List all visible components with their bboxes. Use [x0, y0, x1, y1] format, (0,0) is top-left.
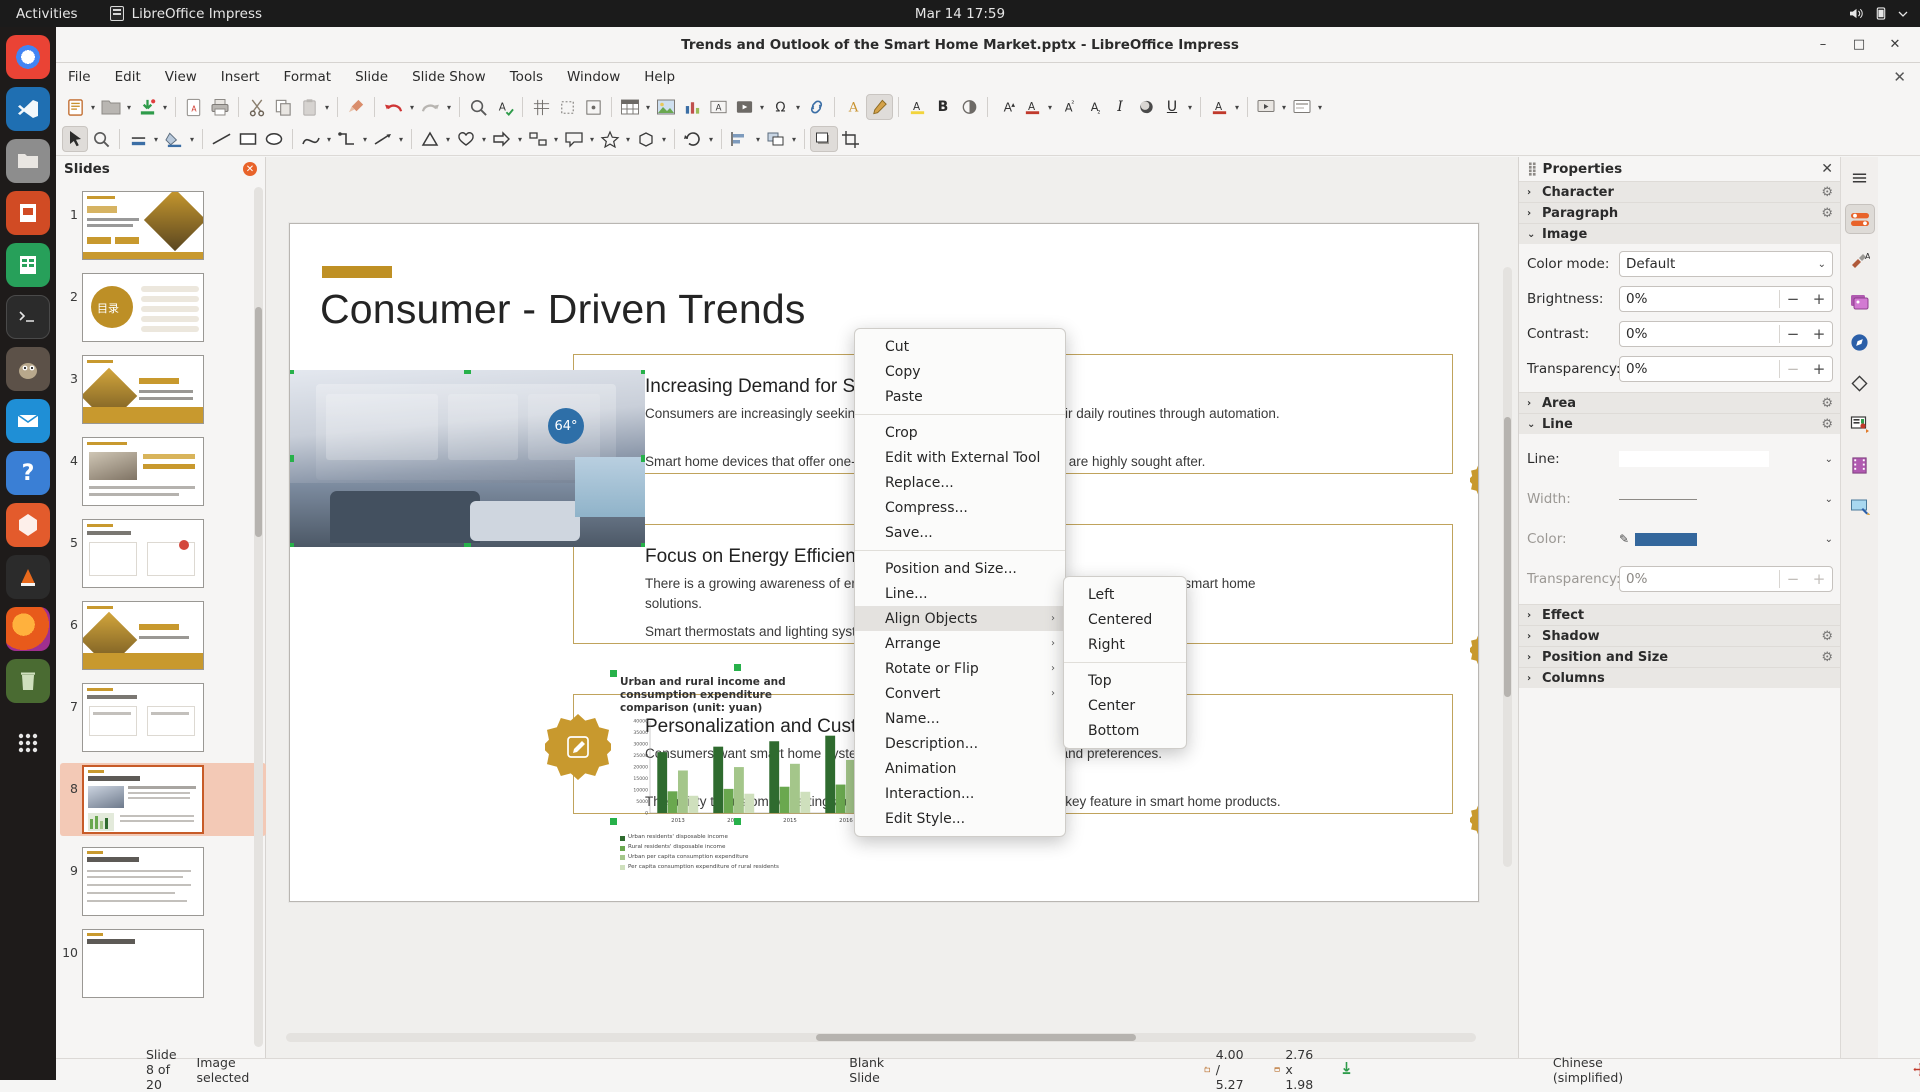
dock-files[interactable]: [6, 139, 50, 183]
color-mode-label: Color mode:: [1527, 256, 1619, 272]
contrast-row: Contrast: 0% − +: [1519, 319, 1841, 349]
image-transparency-increase-button[interactable]: +: [1806, 360, 1832, 378]
line-transparency-spinner[interactable]: 0% − +: [1619, 566, 1833, 592]
menu-file[interactable]: File: [56, 66, 103, 88]
slide-preview-1: [82, 191, 204, 260]
sidebar-section-shadow[interactable]: › Shadow ⚙: [1519, 625, 1841, 646]
slide-title[interactable]: Consumer - Driven Trends: [320, 286, 806, 333]
font-name-color-dropdown[interactable]: ▾: [1232, 103, 1242, 112]
brightness-row: Brightness: 0% − +: [1519, 284, 1841, 314]
image-transparency-label: Transparency:: [1527, 361, 1619, 377]
copy-button[interactable]: [270, 94, 296, 120]
card-3-badge[interactable]: [1470, 802, 1479, 838]
sidebar-settings-button[interactable]: [1845, 163, 1875, 193]
legend-label: Per capita consumption expenditure of ru…: [628, 863, 779, 873]
card-2-badge[interactable]: [1470, 632, 1479, 668]
fit-to-window-icon[interactable]: [1913, 1062, 1920, 1077]
paste-dropdown[interactable]: ▾: [322, 103, 332, 112]
chevron-right-icon: ›: [1051, 638, 1055, 649]
context-menu-separator-1: [855, 414, 1065, 415]
connectors-button[interactable]: [334, 126, 360, 152]
svg-text:2016: 2016: [839, 818, 853, 824]
selection-handle-bl[interactable]: [290, 543, 294, 547]
arrange-label: Arrange: [885, 636, 941, 652]
master-slide-dropdown[interactable]: ▾: [1315, 103, 1325, 112]
context-menu-item-convert[interactable]: Convert ›: [855, 681, 1065, 706]
gear-icon[interactable]: ⚙: [1821, 629, 1833, 644]
callouts-button[interactable]: [561, 126, 587, 152]
line-style-preview[interactable]: [1619, 451, 1769, 467]
window-title: Trends and Outlook of the Smart Home Mar…: [681, 37, 1239, 53]
slide-thumbnail-2[interactable]: 2 目录: [60, 271, 266, 344]
brightness-increase-button[interactable]: +: [1806, 290, 1832, 308]
menu-slide-show[interactable]: Slide Show: [400, 66, 498, 88]
slide-preview-6: [82, 601, 204, 670]
title-accent-bar: [322, 266, 392, 278]
svg-text:2013: 2013: [671, 818, 685, 824]
italic-button[interactable]: I: [1107, 94, 1133, 120]
slide-thumbnail-7[interactable]: 7: [60, 681, 266, 754]
gear-icon[interactable]: ⚙: [1821, 650, 1833, 665]
dock-gimp[interactable]: [6, 347, 50, 391]
dock-show-applications[interactable]: [6, 721, 50, 765]
slide-preview-8: [82, 765, 204, 834]
submenu-item-right[interactable]: Right: [1064, 632, 1186, 657]
context-menu-item-crop[interactable]: Crop: [855, 420, 1065, 445]
insert-hyperlink-button[interactable]: [803, 94, 829, 120]
dock-firefox[interactable]: [6, 607, 50, 651]
slide-thumbnail-1[interactable]: 1: [60, 189, 266, 262]
brightness-decrease-button[interactable]: −: [1780, 290, 1806, 308]
menu-tools[interactable]: Tools: [498, 66, 555, 88]
slide-panel-scrollbar[interactable]: [254, 187, 263, 1047]
flowchart-button[interactable]: [525, 126, 551, 152]
slides-panel: Slides ✕ 1 2 目录: [56, 157, 266, 1058]
basic-shapes-button[interactable]: [417, 126, 443, 152]
slide-thumbnail-10[interactable]: 10: [60, 927, 266, 1000]
sidebar-tab-slide-transition[interactable]: [1845, 491, 1875, 521]
context-menu-item-description[interactable]: Description...: [855, 731, 1065, 756]
close-slides-panel-button[interactable]: ✕: [243, 162, 257, 176]
power-icon: [1874, 7, 1888, 20]
lines-arrows-dropdown[interactable]: ▾: [396, 135, 406, 144]
context-menu-item-edit-with-external-tool[interactable]: Edit with External Tool: [855, 445, 1065, 470]
sidebar-section-paragraph[interactable]: › Paragraph ⚙: [1519, 202, 1841, 223]
context-menu-item-paste[interactable]: Paste: [855, 384, 1065, 409]
fill-color-button[interactable]: [161, 126, 187, 152]
helplines-button[interactable]: [554, 94, 580, 120]
dock-calc[interactable]: [6, 243, 50, 287]
stars-dropdown[interactable]: ▾: [623, 135, 633, 144]
context-menu-item-line[interactable]: Line...: [855, 581, 1065, 606]
slide-thumbnail-3[interactable]: 3: [60, 353, 266, 426]
subscript-button[interactable]: A₂: [1081, 94, 1107, 120]
sidebar-tab-gallery[interactable]: [1845, 286, 1875, 316]
select-tool-button[interactable]: [62, 126, 88, 152]
sidebar-tab-navigator[interactable]: [1845, 327, 1875, 357]
fill-color-dropdown[interactable]: ▾: [187, 135, 197, 144]
context-menu-item-animation[interactable]: Animation: [855, 756, 1065, 781]
align-right-label: Right: [1088, 637, 1125, 653]
contrast-spinner[interactable]: 0% − +: [1619, 321, 1833, 347]
position-size-section-label: Position and Size: [1542, 650, 1668, 665]
save-dropdown[interactable]: ▾: [160, 103, 170, 112]
start-presentation-dropdown[interactable]: ▾: [1279, 103, 1289, 112]
selection-handle-tr[interactable]: [641, 370, 645, 374]
selection-handle-ml[interactable]: [290, 455, 294, 462]
contrast-increase-button[interactable]: +: [1806, 325, 1832, 343]
find-replace-button[interactable]: [465, 94, 491, 120]
curves-and-polygons-button[interactable]: [298, 126, 324, 152]
redo-dropdown[interactable]: ▾: [444, 103, 454, 112]
system-tray[interactable]: [1849, 7, 1908, 20]
svg-text:A: A: [847, 101, 858, 116]
brightness-spinner[interactable]: 0% − +: [1619, 286, 1833, 312]
start-from-first-slide-button[interactable]: [1253, 94, 1279, 120]
color-mode-select[interactable]: Default ⌄: [1619, 251, 1833, 277]
selection-handle-tl[interactable]: [290, 370, 294, 374]
activities-button[interactable]: Activities: [0, 6, 92, 22]
insert-line-button[interactable]: [208, 126, 235, 152]
export-pdf-button[interactable]: A: [181, 94, 207, 120]
bold-button[interactable]: B: [930, 94, 956, 120]
line-transparency-increase-button[interactable]: +: [1806, 570, 1832, 588]
dock-terminal[interactable]: [6, 295, 50, 339]
symbol-shapes-button[interactable]: [453, 126, 479, 152]
sidebar-section-line[interactable]: ⌄ Line ⚙: [1519, 413, 1841, 434]
dock-impress[interactable]: [6, 191, 50, 235]
svg-text:30000: 30000: [633, 742, 648, 748]
menu-format[interactable]: Format: [272, 66, 344, 88]
align-centered-label: Centered: [1088, 612, 1152, 628]
convert-label: Convert: [885, 686, 940, 702]
clone-formatting-button[interactable]: [343, 94, 369, 120]
line-section-label: Line: [1542, 417, 1573, 432]
snap-grid-button[interactable]: [580, 94, 606, 120]
font-color-button[interactable]: A: [1019, 94, 1045, 120]
card-2-heading[interactable]: Focus on Energy Efficiency: [645, 546, 875, 568]
chevron-right-icon: ›: [1527, 187, 1536, 198]
context-menu-item-copy[interactable]: Copy: [855, 359, 1065, 384]
menu-insert[interactable]: Insert: [209, 66, 272, 88]
embedded-chart-image[interactable]: Urban and rural income and consumption e…: [620, 676, 880, 826]
open-button[interactable]: [98, 94, 124, 120]
dock-chrome[interactable]: [6, 35, 50, 79]
font-name-color-button[interactable]: A: [1206, 94, 1232, 120]
svg-text:2015: 2015: [783, 818, 797, 824]
curves-dropdown[interactable]: ▾: [324, 135, 334, 144]
insert-special-character-dropdown[interactable]: ▾: [793, 103, 803, 112]
description-label: Description...: [885, 736, 978, 752]
grip-icon: ⣿: [1527, 161, 1536, 177]
sidebar-tab-animation[interactable]: [1845, 450, 1875, 480]
menu-edit[interactable]: Edit: [103, 66, 153, 88]
cursor-position: 4.00 / 5.27: [1216, 1047, 1250, 1092]
close-document-button[interactable]: ✕: [1893, 68, 1906, 86]
undo-button[interactable]: [380, 94, 407, 120]
display-grid-button[interactable]: [528, 94, 554, 120]
context-menu-item-save[interactable]: Save...: [855, 520, 1065, 545]
chevron-right-icon: ›: [1527, 208, 1536, 219]
dock-vscode[interactable]: [6, 87, 50, 131]
context-menu-item-cut[interactable]: Cut: [855, 334, 1065, 359]
horizontal-scrollbar[interactable]: [286, 1033, 1476, 1042]
slide-number-2: 2: [62, 273, 78, 304]
chart-handle-tm[interactable]: [734, 664, 741, 671]
card-1-badge[interactable]: [1470, 462, 1479, 498]
svg-text:10000: 10000: [633, 788, 648, 794]
save-label: Save...: [885, 525, 933, 541]
character-highlighting-button[interactable]: A: [904, 94, 930, 120]
underline-dropdown[interactable]: ▾: [1185, 103, 1195, 112]
gear-icon[interactable]: ⚙: [1821, 206, 1833, 221]
sidebar-tab-properties[interactable]: [1845, 204, 1875, 234]
line-color-button[interactable]: [125, 126, 151, 152]
rotate-dropdown[interactable]: ▾: [706, 135, 716, 144]
active-app-label: LibreOffice Impress: [132, 6, 262, 22]
clock[interactable]: Mar 14 17:59: [915, 6, 1005, 22]
line-color-dropdown[interactable]: ▾: [151, 135, 161, 144]
insert-media-button[interactable]: [731, 94, 757, 120]
context-menu-item-replace[interactable]: Replace...: [855, 470, 1065, 495]
font-color-dropdown[interactable]: ▾: [1045, 103, 1055, 112]
insert-textbox-button[interactable]: A: [705, 94, 731, 120]
submenu-item-left[interactable]: Left: [1064, 582, 1186, 607]
context-menu-item-name[interactable]: Name...: [855, 706, 1065, 731]
insert-table-button[interactable]: [617, 94, 643, 120]
block-arrows-dropdown[interactable]: ▾: [515, 135, 525, 144]
print-button[interactable]: [207, 94, 233, 120]
sidebar-tab-rail: A: [1840, 157, 1878, 1058]
fontwork-button[interactable]: A: [840, 94, 866, 120]
selection-handle-tm[interactable]: [464, 370, 471, 374]
basic-shapes-dropdown[interactable]: ▾: [443, 135, 453, 144]
svg-text:A: A: [1214, 101, 1222, 113]
slide-layout-status: Blank Slide: [849, 1055, 884, 1085]
connectors-dropdown[interactable]: ▾: [360, 135, 370, 144]
contrast-decrease-button[interactable]: −: [1780, 325, 1806, 343]
shadow-section-label: Shadow: [1542, 629, 1600, 644]
line-transparency-decrease-button[interactable]: −: [1780, 570, 1806, 588]
color-button[interactable]: [956, 94, 982, 120]
zoom-tool-button[interactable]: [88, 126, 114, 152]
brightness-value: 0%: [1626, 291, 1647, 307]
redo-button[interactable]: [417, 94, 444, 120]
selected-image[interactable]: 64°: [290, 370, 645, 547]
sidebar-section-effect[interactable]: › Effect: [1519, 604, 1841, 625]
save-button[interactable]: [134, 94, 160, 120]
image-transparency-row: Transparency: 0% − +: [1519, 354, 1841, 384]
ellipse-button[interactable]: [261, 126, 287, 152]
image-transparency-decrease-button[interactable]: −: [1780, 360, 1806, 378]
submenu-separator: [1064, 662, 1186, 663]
paste-button[interactable]: [296, 94, 322, 120]
line-width-preview: [1619, 499, 1697, 500]
slide-thumbnail-4[interactable]: 4: [60, 435, 266, 508]
image-context-menu[interactable]: Cut Copy Paste Crop Edit with External T…: [854, 328, 1066, 837]
slide-thumbnail-6[interactable]: 6: [60, 599, 266, 672]
object-size: 2.76 x 1.98: [1285, 1047, 1320, 1092]
insert-image-button[interactable]: [653, 94, 679, 120]
paragraph-section-label: Paragraph: [1542, 206, 1618, 221]
rotate-button[interactable]: [680, 126, 706, 152]
legend-label: Rural residents' disposable income: [628, 843, 725, 853]
dock-help[interactable]: ?: [6, 451, 50, 495]
menu-view[interactable]: View: [153, 66, 209, 88]
insert-table-dropdown[interactable]: ▾: [643, 103, 653, 112]
image-transparency-spinner[interactable]: 0% − +: [1619, 356, 1833, 382]
fit-slide-icon[interactable]: [1340, 1061, 1353, 1078]
undo-dropdown[interactable]: ▾: [407, 103, 417, 112]
dock-thunderbird[interactable]: [6, 399, 50, 443]
sidebar-section-image[interactable]: ⌄ Image: [1519, 223, 1841, 244]
maximize-button[interactable]: □: [1842, 32, 1876, 58]
gear-icon[interactable]: ⚙: [1821, 185, 1833, 200]
svg-text:20000: 20000: [633, 765, 648, 771]
size-icon: [1274, 1063, 1280, 1076]
gear-icon[interactable]: ⚙: [1821, 417, 1833, 432]
submenu-item-bottom[interactable]: Bottom: [1064, 718, 1186, 743]
chart-legend-item: Rural residents' disposable income: [620, 843, 880, 853]
context-menu-item-arrange[interactable]: Arrange ›: [855, 631, 1065, 656]
3d-objects-button[interactable]: [633, 126, 659, 152]
align-left-label: Left: [1088, 587, 1114, 603]
stars-button[interactable]: [597, 126, 623, 152]
context-menu-item-compress[interactable]: Compress...: [855, 495, 1065, 520]
increase-font-button[interactable]: A▴: [993, 94, 1019, 120]
3d-objects-dropdown[interactable]: ▾: [659, 135, 669, 144]
brightness-label: Brightness:: [1527, 291, 1619, 307]
context-menu-item-edit-style[interactable]: Edit Style...: [855, 806, 1065, 831]
insert-media-dropdown[interactable]: ▾: [757, 103, 767, 112]
sidebar-section-character[interactable]: › Character ⚙: [1519, 181, 1841, 202]
slide-preview-3: [82, 355, 204, 424]
shadow-toggle-button[interactable]: [810, 126, 838, 152]
menu-window[interactable]: Window: [555, 66, 632, 88]
insert-special-character-button[interactable]: Ω: [767, 94, 793, 120]
selection-handle-mr[interactable]: [641, 455, 645, 462]
slide-thumbnail-list[interactable]: 1 2 目录: [56, 183, 266, 1058]
chart-handle-bm[interactable]: [734, 818, 741, 825]
eyedropper-icon[interactable]: ✎: [1619, 532, 1629, 546]
line-color-swatch[interactable]: [1635, 533, 1697, 546]
slide-number-10: 10: [62, 929, 78, 960]
context-menu-item-align-objects[interactable]: Align Objects ›: [855, 606, 1065, 631]
new-document-button[interactable]: [62, 94, 88, 120]
show-draw-functions-button[interactable]: [866, 94, 893, 120]
selection-handle-br[interactable]: [641, 543, 645, 547]
arrange-button[interactable]: [763, 126, 789, 152]
contrast-label: Contrast:: [1527, 326, 1619, 342]
new-document-dropdown[interactable]: ▾: [88, 103, 98, 112]
callouts-dropdown[interactable]: ▾: [587, 135, 597, 144]
svg-text:A: A: [498, 101, 506, 113]
svg-text:₂: ₂: [1097, 107, 1100, 116]
dock-vlc[interactable]: [6, 555, 50, 599]
svg-text:²: ²: [1071, 99, 1074, 108]
submenu-item-top[interactable]: Top: [1064, 668, 1186, 693]
lines-and-arrows-button[interactable]: [370, 126, 396, 152]
slide-thumbnail-9[interactable]: 9: [60, 845, 266, 918]
chevron-down-icon: ⌄: [1527, 419, 1536, 430]
flowchart-dropdown[interactable]: ▾: [551, 135, 561, 144]
sidebar-tab-master-slides[interactable]: [1845, 409, 1875, 439]
align-objects-submenu[interactable]: Left Centered Right Top Center Bottom: [1063, 576, 1187, 749]
superscript-button[interactable]: A²: [1055, 94, 1081, 120]
block-arrows-button[interactable]: [489, 126, 515, 152]
chart-handle-tl[interactable]: [610, 670, 617, 677]
context-menu-item-rotate-or-flip[interactable]: Rotate or Flip ›: [855, 656, 1065, 681]
active-app-indicator[interactable]: LibreOffice Impress: [110, 6, 262, 22]
context-menu-item-position-and-size[interactable]: Position and Size...: [855, 556, 1065, 581]
line-style-dropdown[interactable]: ⌄: [1825, 454, 1833, 465]
sidebar-tab-shapes[interactable]: [1845, 368, 1875, 398]
underline-button[interactable]: U: [1159, 94, 1185, 120]
rectangle-button[interactable]: [235, 126, 261, 152]
slide-number-3: 3: [62, 355, 78, 386]
context-menu-item-interaction[interactable]: Interaction...: [855, 781, 1065, 806]
sidebar-section-columns[interactable]: › Columns: [1519, 667, 1841, 688]
submenu-item-centered[interactable]: Centered: [1064, 607, 1186, 632]
sidebar-tab-styles[interactable]: A: [1845, 245, 1875, 275]
align-objects-label: Align Objects: [885, 611, 977, 627]
selection-handle-bm[interactable]: [464, 543, 471, 547]
cut-button[interactable]: [244, 94, 270, 120]
submenu-item-center[interactable]: Center: [1064, 693, 1186, 718]
chart-handle-bl[interactable]: [610, 818, 617, 825]
slide-thumbnail-8[interactable]: 8: [60, 763, 266, 836]
menu-slide[interactable]: Slide: [343, 66, 400, 88]
close-sidebar-button[interactable]: ✕: [1821, 161, 1833, 177]
insert-chart-button[interactable]: [679, 94, 705, 120]
crop-label: Crop: [885, 425, 918, 441]
minimize-button[interactable]: –: [1806, 32, 1840, 58]
align-objects-dropdown[interactable]: ▾: [753, 135, 763, 144]
crop-image-button[interactable]: [838, 126, 864, 152]
slide-thumbnail-5[interactable]: 5: [60, 517, 266, 590]
symbol-shapes-dropdown[interactable]: ▾: [479, 135, 489, 144]
gnome-top-bar: Activities LibreOffice Impress Mar 14 17…: [0, 0, 1920, 27]
line-transparency-value: 0%: [1626, 571, 1647, 587]
gear-icon[interactable]: ⚙: [1821, 396, 1833, 411]
dock-ubuntu-software[interactable]: [6, 503, 50, 547]
arrange-dropdown[interactable]: ▾: [789, 135, 799, 144]
line-color-dropdown[interactable]: ⌄: [1825, 534, 1833, 545]
sidebar-section-area[interactable]: › Area ⚙: [1519, 392, 1841, 413]
slide-number-8: 8: [62, 765, 78, 796]
chart-legend: Urban residents' disposable incomeRural …: [620, 833, 880, 872]
image-transparency-value: 0%: [1626, 361, 1647, 377]
window-titlebar: Trends and Outlook of the Smart Home Mar…: [0, 27, 1920, 63]
drawing-toolbar: ▾ ▾ ▾ ▾ ▾ ▾ ▾ ▾ ▾ ▾ ▾ ▾ ▾ ▾ ▾: [56, 123, 1920, 156]
spelling-button[interactable]: A: [491, 94, 517, 120]
line-width-dropdown[interactable]: ⌄: [1825, 494, 1833, 505]
dock-trash[interactable]: [6, 659, 50, 703]
open-dropdown[interactable]: ▾: [124, 103, 134, 112]
shadow-button[interactable]: [1133, 94, 1159, 120]
sidebar-section-position-and-size[interactable]: › Position and Size ⚙: [1519, 646, 1841, 667]
language-status[interactable]: Chinese (simplified): [1553, 1055, 1623, 1085]
vertical-scrollbar[interactable]: [1503, 267, 1512, 867]
menu-help[interactable]: Help: [632, 66, 687, 88]
master-slide-button[interactable]: [1289, 94, 1315, 120]
close-window-button[interactable]: ✕: [1878, 32, 1912, 58]
chart-legend-item: Urban per capita consumption expenditure: [620, 853, 880, 863]
properties-sidebar: ⣿ Properties ✕ › Character ⚙ › Paragraph…: [1518, 157, 1878, 1058]
chart-legend-item: Per capita consumption expenditure of ru…: [620, 863, 880, 873]
align-objects-button[interactable]: [727, 126, 753, 152]
sidebar-deck: ⣿ Properties ✕ › Character ⚙ › Paragraph…: [1519, 157, 1841, 1058]
